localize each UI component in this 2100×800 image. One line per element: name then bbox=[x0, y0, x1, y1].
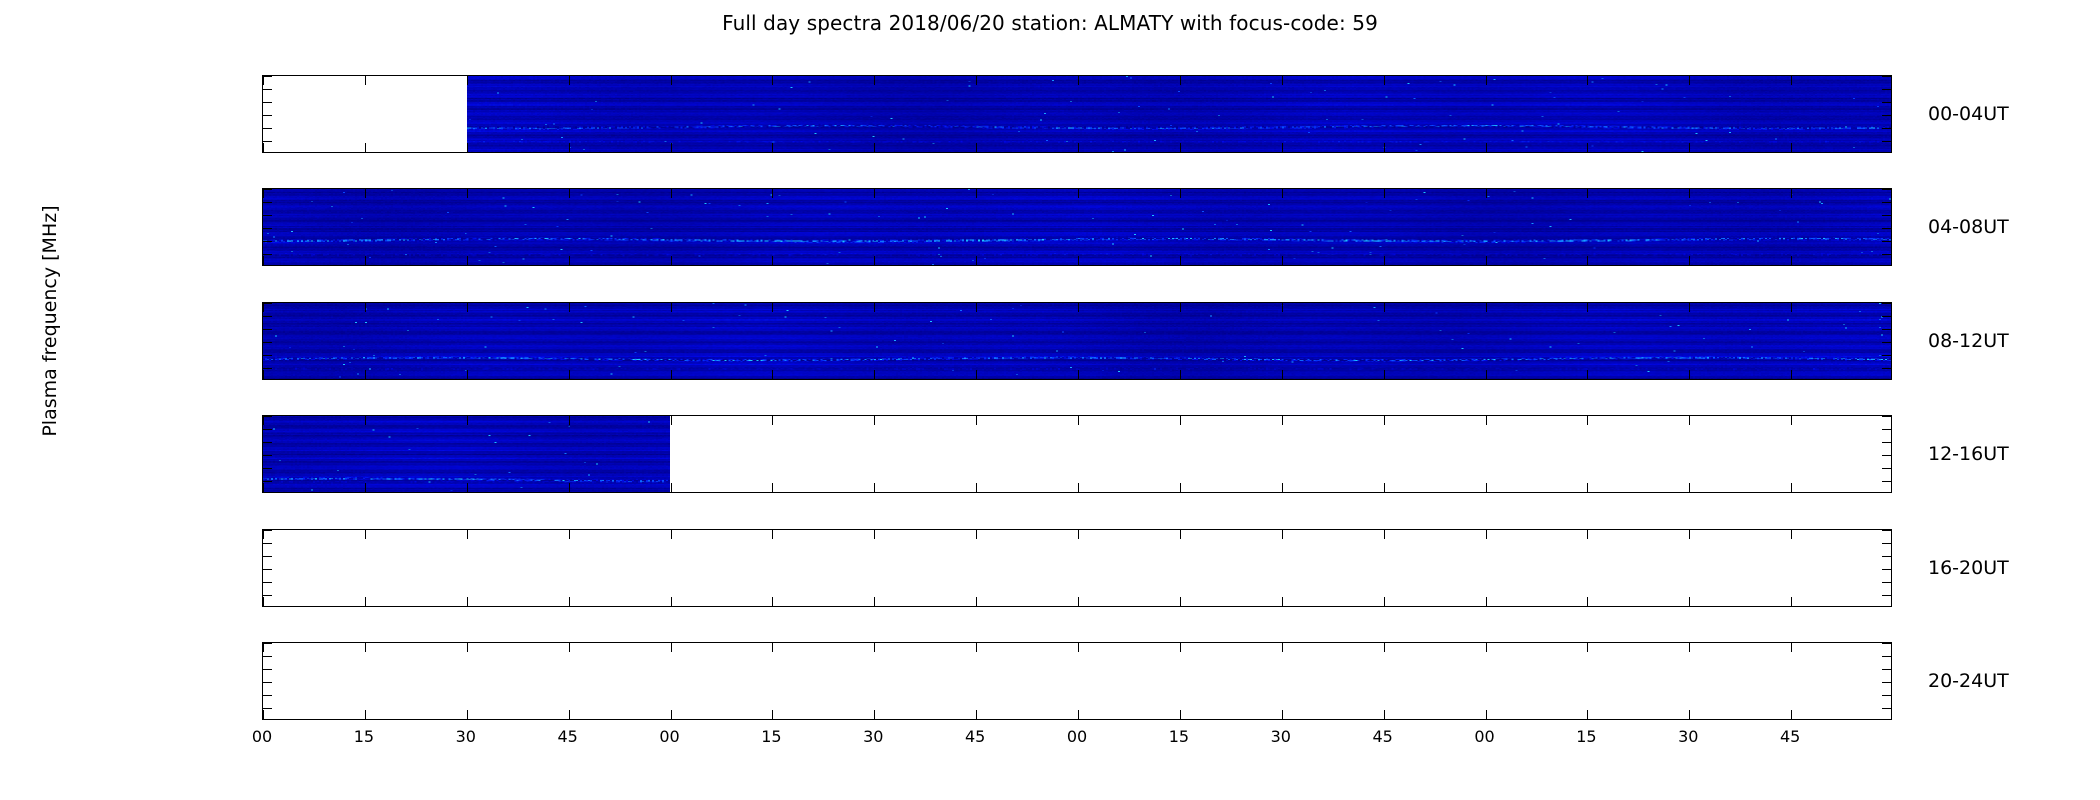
y-tick bbox=[263, 329, 272, 330]
x-tick bbox=[263, 76, 264, 85]
x-tick bbox=[1384, 256, 1385, 265]
y-tick bbox=[263, 695, 272, 696]
y-tick bbox=[263, 416, 272, 417]
y-tick bbox=[1882, 76, 1891, 77]
x-tick bbox=[263, 303, 264, 312]
x-tick bbox=[772, 530, 773, 539]
x-tick bbox=[976, 143, 977, 152]
x-tick bbox=[1180, 710, 1181, 719]
panel-label-20-24ut: 20-24UT bbox=[1928, 670, 2009, 692]
x-tick bbox=[569, 256, 570, 265]
y-tick bbox=[1882, 115, 1891, 116]
x-tick bbox=[1791, 597, 1792, 606]
x-tick bbox=[1180, 256, 1181, 265]
x-tick bbox=[1587, 370, 1588, 379]
y-tick bbox=[1882, 530, 1891, 531]
y-tick bbox=[263, 481, 272, 482]
x-tick bbox=[467, 643, 468, 652]
x-tick bbox=[874, 189, 875, 198]
x-tick bbox=[671, 643, 672, 652]
x-tick bbox=[1384, 143, 1385, 152]
x-tick bbox=[874, 597, 875, 606]
x-tick bbox=[1282, 143, 1283, 152]
x-tick bbox=[1384, 710, 1385, 719]
y-tick bbox=[263, 595, 272, 596]
x-tick bbox=[569, 370, 570, 379]
y-tick bbox=[263, 316, 272, 317]
x-tick bbox=[1282, 303, 1283, 312]
y-tick bbox=[263, 556, 272, 557]
x-tick bbox=[1180, 416, 1181, 425]
x-tick bbox=[1282, 597, 1283, 606]
x-tick bbox=[976, 76, 977, 85]
x-tick bbox=[467, 370, 468, 379]
x-tick bbox=[1689, 256, 1690, 265]
panel-20-24ut[interactable]: 800700600500400300200 bbox=[262, 642, 1892, 720]
panel-label-16-20ut: 16-20UT bbox=[1928, 557, 2009, 579]
y-tick bbox=[1882, 189, 1891, 190]
x-tick bbox=[1791, 483, 1792, 492]
x-tick bbox=[976, 416, 977, 425]
x-axis-tick-label: 00 bbox=[659, 727, 679, 746]
y-tick bbox=[263, 682, 272, 683]
x-axis-tick-label: 00 bbox=[1474, 727, 1494, 746]
x-tick bbox=[874, 710, 875, 719]
x-tick bbox=[1689, 530, 1690, 539]
x-tick bbox=[1282, 483, 1283, 492]
y-tick bbox=[263, 254, 272, 255]
x-tick bbox=[365, 597, 366, 606]
x-axis-tick-label: 45 bbox=[1372, 727, 1392, 746]
y-tick bbox=[1882, 656, 1891, 657]
x-axis-tick-label: 45 bbox=[965, 727, 985, 746]
panel-label-00-04ut: 00-04UT bbox=[1928, 103, 2009, 125]
x-tick bbox=[365, 710, 366, 719]
x-tick bbox=[1791, 76, 1792, 85]
x-tick bbox=[1384, 416, 1385, 425]
x-tick bbox=[1791, 710, 1792, 719]
x-axis-tick-label: 30 bbox=[456, 727, 476, 746]
x-tick bbox=[976, 256, 977, 265]
x-tick bbox=[1078, 483, 1079, 492]
x-tick bbox=[671, 416, 672, 425]
x-tick bbox=[772, 143, 773, 152]
x-tick bbox=[467, 256, 468, 265]
y-tick bbox=[1882, 595, 1891, 596]
x-tick bbox=[467, 483, 468, 492]
x-tick bbox=[1180, 597, 1181, 606]
x-tick bbox=[1180, 143, 1181, 152]
figure-title: Full day spectra 2018/06/20 station: ALM… bbox=[0, 11, 2100, 35]
x-tick bbox=[1180, 189, 1181, 198]
x-axis-tick-label: 00 bbox=[1067, 727, 1087, 746]
y-tick bbox=[263, 442, 272, 443]
panel-label-12-16ut: 12-16UT bbox=[1928, 443, 2009, 465]
x-tick bbox=[976, 189, 977, 198]
x-tick bbox=[1689, 189, 1690, 198]
y-tick bbox=[1882, 468, 1891, 469]
y-tick bbox=[1882, 228, 1891, 229]
y-tick bbox=[1882, 215, 1891, 216]
y-tick bbox=[263, 468, 272, 469]
x-tick bbox=[1689, 643, 1690, 652]
x-tick bbox=[569, 303, 570, 312]
x-tick bbox=[569, 76, 570, 85]
x-tick bbox=[263, 256, 264, 265]
x-tick bbox=[365, 483, 366, 492]
x-tick bbox=[1587, 189, 1588, 198]
x-tick bbox=[671, 483, 672, 492]
x-tick bbox=[1689, 483, 1690, 492]
x-tick bbox=[365, 530, 366, 539]
y-tick bbox=[263, 429, 272, 430]
x-axis-tick-label: 30 bbox=[1678, 727, 1698, 746]
y-tick bbox=[1882, 455, 1891, 456]
x-tick bbox=[569, 483, 570, 492]
x-tick bbox=[772, 189, 773, 198]
x-tick bbox=[1791, 143, 1792, 152]
x-tick bbox=[1384, 76, 1385, 85]
x-tick bbox=[569, 597, 570, 606]
x-tick bbox=[1689, 143, 1690, 152]
y-tick bbox=[263, 455, 272, 456]
x-tick bbox=[1486, 370, 1487, 379]
x-tick bbox=[467, 530, 468, 539]
y-tick bbox=[263, 368, 272, 369]
panel-00-04ut[interactable]: 800700600500400300200 bbox=[262, 75, 1892, 153]
x-tick bbox=[1689, 370, 1690, 379]
x-tick bbox=[1689, 710, 1690, 719]
y-tick bbox=[1882, 669, 1891, 670]
x-tick bbox=[1587, 530, 1588, 539]
x-tick bbox=[1078, 76, 1079, 85]
y-tick bbox=[263, 128, 272, 129]
x-tick bbox=[1282, 256, 1283, 265]
y-axis-label: Plasma frequency [MHz] bbox=[39, 111, 61, 531]
y-tick bbox=[1882, 254, 1891, 255]
y-tick bbox=[1882, 543, 1891, 544]
x-axis-tick-label: 45 bbox=[557, 727, 577, 746]
x-tick bbox=[1282, 76, 1283, 85]
x-tick bbox=[569, 143, 570, 152]
x-tick bbox=[1791, 416, 1792, 425]
y-tick bbox=[1882, 128, 1891, 129]
x-tick bbox=[772, 76, 773, 85]
x-tick bbox=[1078, 189, 1079, 198]
x-tick bbox=[1689, 597, 1690, 606]
x-tick bbox=[569, 189, 570, 198]
x-tick bbox=[1384, 189, 1385, 198]
y-tick bbox=[263, 228, 272, 229]
x-tick bbox=[263, 370, 264, 379]
x-tick bbox=[1384, 643, 1385, 652]
x-tick bbox=[1282, 643, 1283, 652]
x-tick bbox=[874, 416, 875, 425]
y-tick bbox=[263, 241, 272, 242]
x-tick bbox=[671, 530, 672, 539]
x-tick bbox=[467, 76, 468, 85]
x-tick bbox=[1587, 710, 1588, 719]
x-tick bbox=[772, 416, 773, 425]
x-tick bbox=[772, 710, 773, 719]
x-tick bbox=[1282, 189, 1283, 198]
x-tick bbox=[1486, 483, 1487, 492]
x-tick bbox=[467, 416, 468, 425]
x-tick bbox=[263, 189, 264, 198]
y-tick bbox=[263, 76, 272, 77]
x-tick bbox=[976, 643, 977, 652]
x-tick bbox=[772, 597, 773, 606]
x-tick bbox=[976, 303, 977, 312]
x-tick bbox=[772, 256, 773, 265]
x-tick bbox=[1384, 370, 1385, 379]
x-tick bbox=[1587, 303, 1588, 312]
x-tick bbox=[874, 370, 875, 379]
x-axis-tick-label: 30 bbox=[1271, 727, 1291, 746]
x-tick bbox=[1587, 416, 1588, 425]
y-tick bbox=[1882, 241, 1891, 242]
x-tick bbox=[874, 530, 875, 539]
x-tick bbox=[1180, 483, 1181, 492]
x-tick bbox=[1282, 416, 1283, 425]
x-tick bbox=[365, 256, 366, 265]
y-tick bbox=[263, 569, 272, 570]
spectrogram-image-12-16ut bbox=[263, 416, 1891, 492]
y-tick bbox=[1882, 368, 1891, 369]
x-tick bbox=[569, 530, 570, 539]
x-tick bbox=[1078, 416, 1079, 425]
y-tick bbox=[1882, 416, 1891, 417]
x-tick bbox=[263, 597, 264, 606]
x-tick bbox=[1791, 189, 1792, 198]
x-tick bbox=[569, 643, 570, 652]
x-tick bbox=[874, 643, 875, 652]
y-tick bbox=[1882, 141, 1891, 142]
y-tick bbox=[1882, 202, 1891, 203]
x-tick bbox=[1587, 483, 1588, 492]
x-tick bbox=[365, 76, 366, 85]
x-tick bbox=[1486, 189, 1487, 198]
x-tick bbox=[1180, 643, 1181, 652]
x-tick bbox=[874, 256, 875, 265]
x-tick bbox=[467, 597, 468, 606]
y-tick bbox=[1882, 682, 1891, 683]
x-tick bbox=[365, 416, 366, 425]
panel-label-08-12ut: 08-12UT bbox=[1928, 330, 2009, 352]
x-tick bbox=[772, 370, 773, 379]
x-tick bbox=[1384, 483, 1385, 492]
y-tick bbox=[263, 355, 272, 356]
x-tick bbox=[467, 303, 468, 312]
x-axis-tick-label: 30 bbox=[863, 727, 883, 746]
x-tick bbox=[365, 370, 366, 379]
x-tick bbox=[365, 143, 366, 152]
x-tick bbox=[1384, 597, 1385, 606]
y-tick bbox=[263, 303, 272, 304]
y-tick bbox=[263, 643, 272, 644]
x-tick bbox=[1486, 597, 1487, 606]
panel-08-12ut[interactable]: 800700600500400300200 bbox=[262, 302, 1892, 380]
x-tick bbox=[976, 710, 977, 719]
x-tick bbox=[976, 597, 977, 606]
x-tick bbox=[1486, 530, 1487, 539]
panel-stack: 80070060050040030020000-04UT800700600500… bbox=[262, 75, 1892, 720]
y-tick bbox=[263, 656, 272, 657]
x-tick bbox=[1180, 76, 1181, 85]
x-tick bbox=[976, 483, 977, 492]
x-tick bbox=[1078, 256, 1079, 265]
x-tick bbox=[772, 303, 773, 312]
y-tick bbox=[263, 115, 272, 116]
x-axis-tick-label: 45 bbox=[1780, 727, 1800, 746]
y-tick bbox=[263, 342, 272, 343]
y-tick bbox=[1882, 556, 1891, 557]
x-axis-tick-label: 15 bbox=[1576, 727, 1596, 746]
spectrogram-image-04-08ut bbox=[263, 189, 1891, 265]
x-tick bbox=[1486, 143, 1487, 152]
x-tick bbox=[569, 416, 570, 425]
y-tick bbox=[263, 543, 272, 544]
x-tick bbox=[263, 710, 264, 719]
y-tick bbox=[1882, 316, 1891, 317]
y-tick bbox=[1882, 355, 1891, 356]
x-tick bbox=[1078, 303, 1079, 312]
x-tick bbox=[1180, 303, 1181, 312]
x-tick bbox=[874, 76, 875, 85]
y-tick bbox=[263, 708, 272, 709]
y-tick bbox=[1882, 481, 1891, 482]
x-tick bbox=[1180, 530, 1181, 539]
x-tick bbox=[976, 370, 977, 379]
x-tick bbox=[874, 483, 875, 492]
x-tick bbox=[1791, 303, 1792, 312]
x-tick bbox=[467, 189, 468, 198]
x-axis-tick-label: 15 bbox=[354, 727, 374, 746]
x-tick bbox=[1486, 303, 1487, 312]
x-tick bbox=[772, 643, 773, 652]
x-tick bbox=[671, 597, 672, 606]
y-tick bbox=[1882, 329, 1891, 330]
x-tick bbox=[1486, 710, 1487, 719]
x-tick bbox=[1587, 643, 1588, 652]
x-tick bbox=[671, 370, 672, 379]
x-tick bbox=[772, 483, 773, 492]
x-tick bbox=[671, 143, 672, 152]
x-axis-tick-label: 00 bbox=[252, 727, 272, 746]
panel-12-16ut[interactable]: 800700600500400300200 bbox=[262, 415, 1892, 493]
x-tick bbox=[874, 303, 875, 312]
x-tick bbox=[1384, 303, 1385, 312]
y-tick bbox=[1882, 429, 1891, 430]
panel-04-08ut[interactable]: 800700600500400300200 bbox=[262, 188, 1892, 266]
spectrogram-figure: Full day spectra 2018/06/20 station: ALM… bbox=[0, 0, 2100, 800]
y-tick bbox=[263, 215, 272, 216]
y-tick bbox=[1882, 569, 1891, 570]
x-tick bbox=[874, 143, 875, 152]
y-tick bbox=[1882, 582, 1891, 583]
x-tick bbox=[1282, 710, 1283, 719]
y-tick bbox=[263, 530, 272, 531]
x-tick bbox=[1180, 370, 1181, 379]
y-tick bbox=[1882, 442, 1891, 443]
x-tick bbox=[1078, 710, 1079, 719]
x-tick bbox=[263, 643, 264, 652]
x-tick bbox=[1587, 256, 1588, 265]
y-tick bbox=[263, 141, 272, 142]
x-tick bbox=[569, 710, 570, 719]
x-tick bbox=[1689, 416, 1690, 425]
y-tick bbox=[1882, 695, 1891, 696]
x-tick bbox=[1486, 76, 1487, 85]
x-tick bbox=[1078, 643, 1079, 652]
x-tick bbox=[365, 189, 366, 198]
x-tick bbox=[263, 143, 264, 152]
x-tick bbox=[671, 303, 672, 312]
x-tick bbox=[1078, 370, 1079, 379]
y-tick bbox=[263, 202, 272, 203]
y-tick bbox=[1882, 303, 1891, 304]
x-tick bbox=[263, 416, 264, 425]
x-axis-tick-label: 15 bbox=[1169, 727, 1189, 746]
x-tick bbox=[671, 256, 672, 265]
x-tick bbox=[467, 143, 468, 152]
y-tick bbox=[263, 189, 272, 190]
x-tick bbox=[671, 710, 672, 719]
x-tick bbox=[263, 483, 264, 492]
x-tick bbox=[1791, 256, 1792, 265]
x-tick bbox=[365, 643, 366, 652]
x-tick bbox=[1078, 143, 1079, 152]
spectrogram-image-00-04ut bbox=[263, 76, 1891, 152]
y-tick bbox=[1882, 643, 1891, 644]
y-tick bbox=[263, 102, 272, 103]
panel-16-20ut[interactable]: 800700600500400300200 bbox=[262, 529, 1892, 607]
y-tick bbox=[1882, 342, 1891, 343]
y-tick bbox=[1882, 708, 1891, 709]
x-tick bbox=[1689, 76, 1690, 85]
y-tick bbox=[263, 89, 272, 90]
x-tick bbox=[1587, 76, 1588, 85]
x-tick bbox=[263, 530, 264, 539]
y-tick bbox=[263, 582, 272, 583]
x-tick bbox=[1078, 530, 1079, 539]
x-tick bbox=[1078, 597, 1079, 606]
y-tick bbox=[263, 669, 272, 670]
x-tick bbox=[671, 189, 672, 198]
x-tick bbox=[1486, 256, 1487, 265]
x-tick bbox=[365, 303, 366, 312]
x-tick bbox=[1282, 370, 1283, 379]
x-tick bbox=[1486, 643, 1487, 652]
x-axis-tick-label: 15 bbox=[761, 727, 781, 746]
x-tick bbox=[1587, 143, 1588, 152]
x-tick bbox=[1791, 643, 1792, 652]
x-tick bbox=[1587, 597, 1588, 606]
x-tick bbox=[976, 530, 977, 539]
y-tick bbox=[1882, 102, 1891, 103]
x-tick bbox=[1282, 530, 1283, 539]
x-tick bbox=[1791, 370, 1792, 379]
x-tick bbox=[671, 76, 672, 85]
x-tick bbox=[1689, 303, 1690, 312]
y-tick bbox=[1882, 89, 1891, 90]
spectrogram-image-08-12ut bbox=[263, 303, 1891, 379]
x-tick bbox=[467, 710, 468, 719]
x-tick bbox=[1791, 530, 1792, 539]
x-tick bbox=[1486, 416, 1487, 425]
panel-label-04-08ut: 04-08UT bbox=[1928, 216, 2009, 238]
x-axis-tick-labels: 00153045001530450015304500153045 bbox=[262, 727, 1892, 753]
